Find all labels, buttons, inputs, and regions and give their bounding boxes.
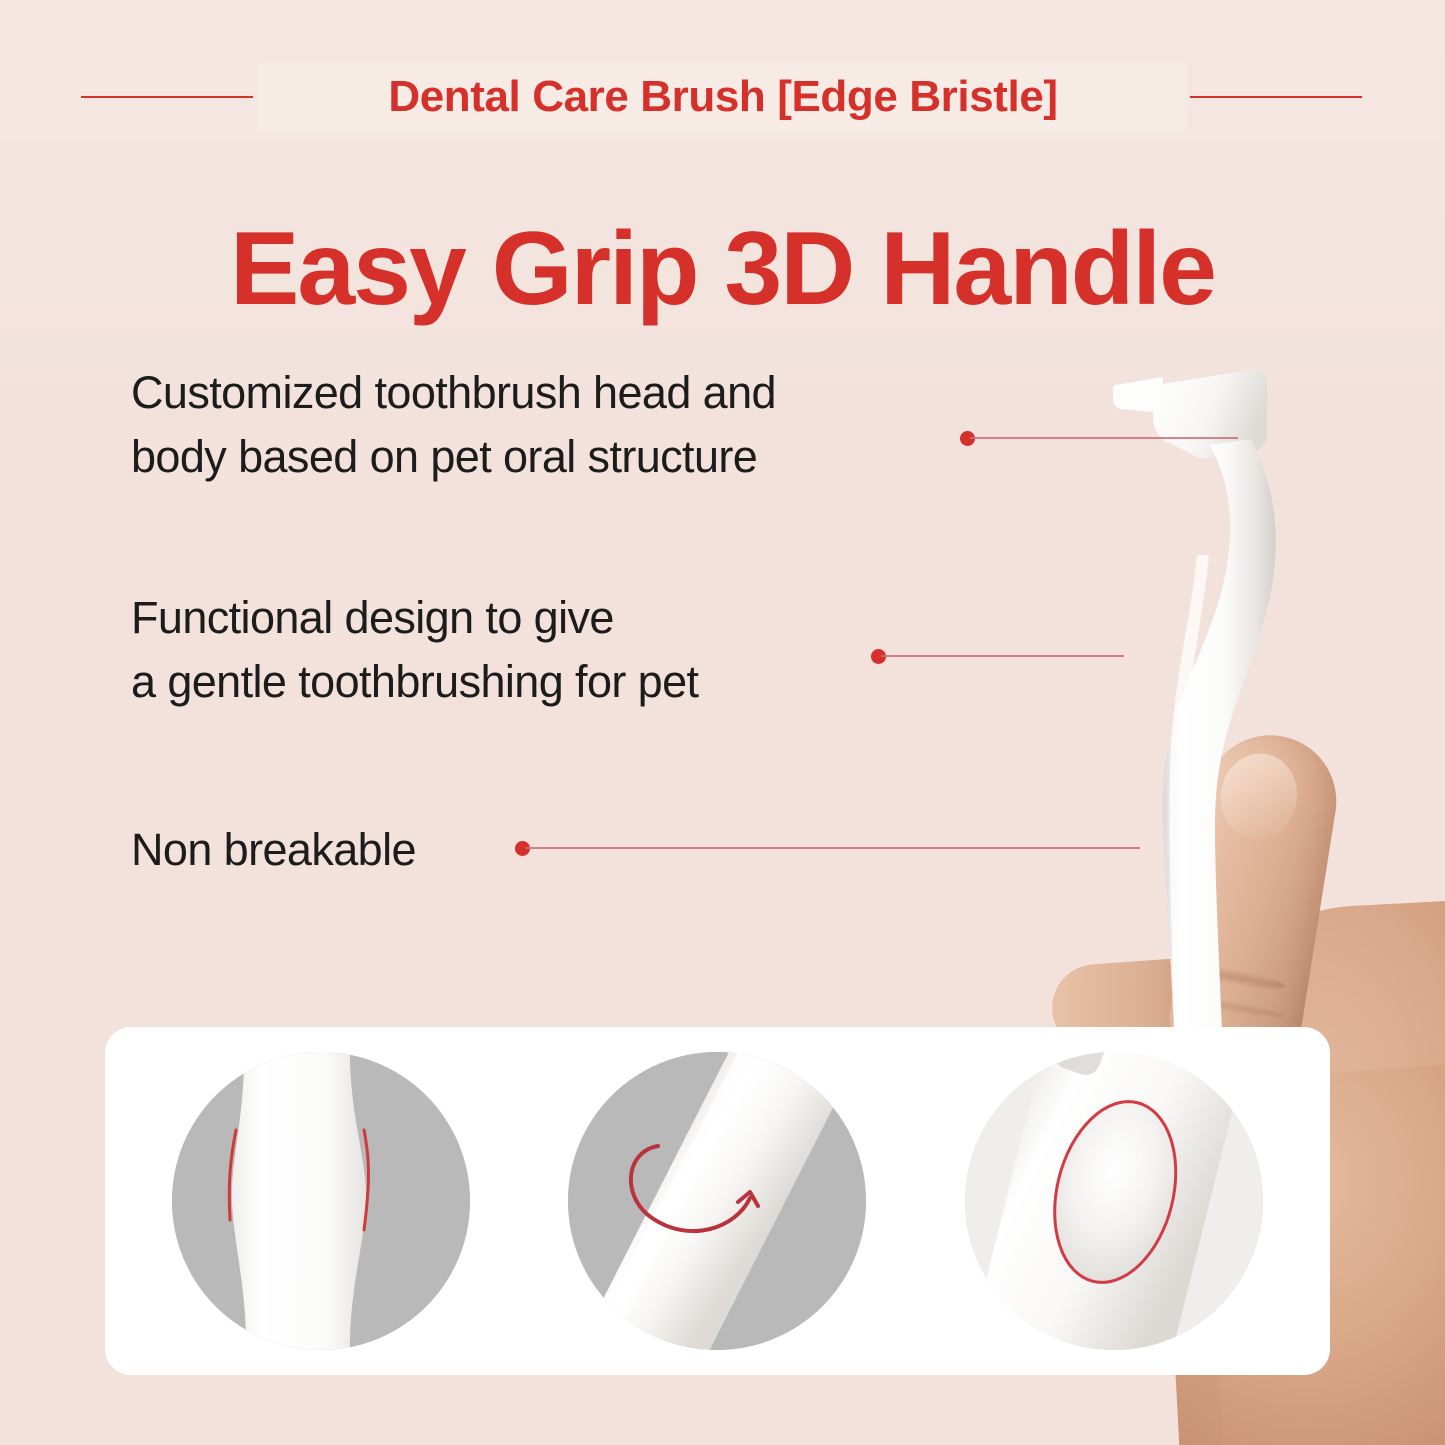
feature-text-functional-design: Functional design to give a gentle tooth… [131, 586, 698, 714]
page-title: Easy Grip 3D Handle [0, 215, 1445, 324]
detail-inset-thumb-rest [965, 1052, 1263, 1350]
eyebrow-label: Dental Care Brush [Edge Bristle] [258, 62, 1188, 132]
detail-inset-row [105, 1027, 1330, 1375]
bristle-tuft [1113, 377, 1163, 413]
leader-rule [881, 655, 1124, 657]
detail-inset-waisted-grip [172, 1052, 470, 1350]
detail-card [105, 1027, 1330, 1375]
feature-text-non-breakable: Non breakable [131, 818, 416, 882]
toothbrush [1105, 355, 1335, 1055]
eyebrow-rule-right [1190, 96, 1362, 98]
eyebrow-rule-left [81, 96, 253, 98]
leader-rule [525, 847, 1140, 849]
detail-inset-rotation-grip [568, 1052, 866, 1350]
handle-silhouette [232, 1052, 366, 1350]
leader-rule [970, 437, 1238, 439]
feature-text-customized-head: Customized toothbrush head and body base… [131, 361, 776, 489]
product-feature-banner: Dental Care Brush [Edge Bristle] Easy Gr… [0, 0, 1445, 1445]
